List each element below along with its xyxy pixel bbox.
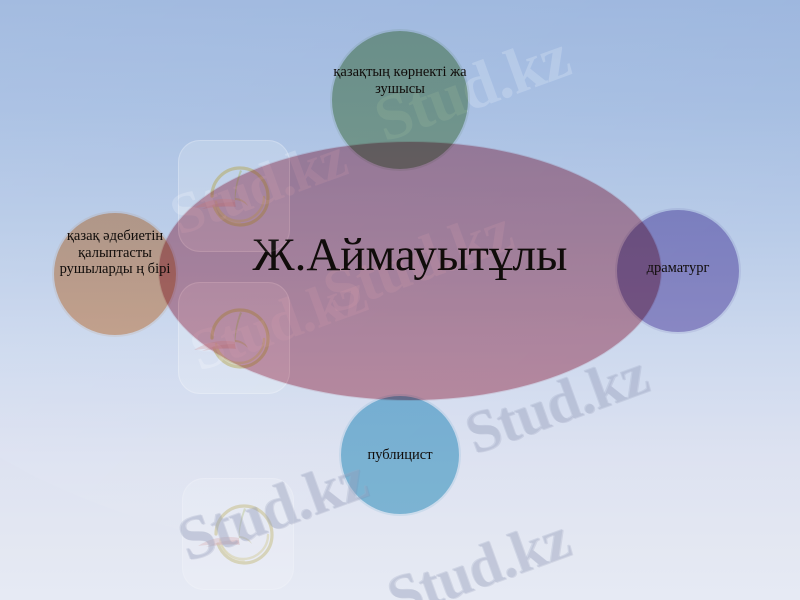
- venn-circle-left[interactable]: [52, 211, 178, 337]
- venn-center-ellipse[interactable]: [158, 141, 662, 401]
- stud-kz-text-watermark: Stud.kz: [378, 503, 578, 600]
- venn-circle-bottom[interactable]: [339, 394, 461, 516]
- stud-kz-bird-logo-watermark: [182, 478, 294, 590]
- slide-canvas: Stud.kzStud.kzStud.kzStud.kz Ж.Аймауытұл…: [0, 0, 800, 600]
- venn-circle-right[interactable]: [615, 208, 741, 334]
- venn-circle-top[interactable]: [330, 29, 470, 171]
